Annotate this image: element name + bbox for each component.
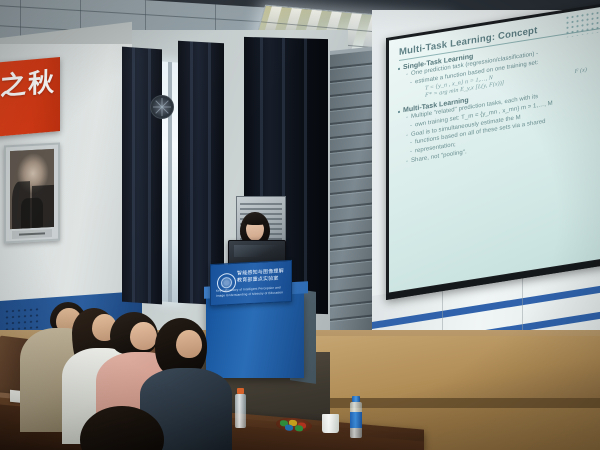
portrait-nameplate bbox=[12, 229, 52, 239]
banner-text: 之秋 bbox=[0, 69, 56, 100]
framed-portrait bbox=[4, 143, 60, 244]
podium-sign-chinese: 智能感知与图像理解 教育部重点实验室 bbox=[237, 268, 288, 285]
stage-floor bbox=[292, 336, 600, 406]
paper-cup bbox=[322, 414, 339, 433]
presentation-slide: Multi-Task Learning: Concept Single-Task… bbox=[389, 6, 600, 293]
stage-edge bbox=[292, 398, 600, 408]
screen-surface: Multi-Task Learning: Concept Single-Task… bbox=[389, 6, 600, 293]
audience-head bbox=[130, 322, 157, 350]
water-bottle bbox=[235, 388, 246, 428]
monitor-sheen bbox=[234, 245, 280, 257]
projection-screen: Multi-Task Learning: Concept Single-Task… bbox=[386, 2, 600, 300]
speaker-fringe bbox=[244, 214, 267, 225]
slide-equation-3: F (x) bbox=[575, 68, 587, 76]
podium-sign: 智能感知与图像理解 教育部重点实验室 Key Laboratory of Int… bbox=[210, 260, 292, 306]
ceiling-vent-icon bbox=[150, 95, 174, 119]
water-bottle bbox=[350, 396, 362, 438]
lecture-hall-photo: 之秋 bbox=[0, 0, 600, 450]
curtain-left bbox=[122, 47, 162, 305]
red-wall-banner: 之秋 bbox=[0, 57, 60, 137]
audience-head bbox=[176, 330, 202, 358]
portrait-photo bbox=[10, 149, 54, 229]
